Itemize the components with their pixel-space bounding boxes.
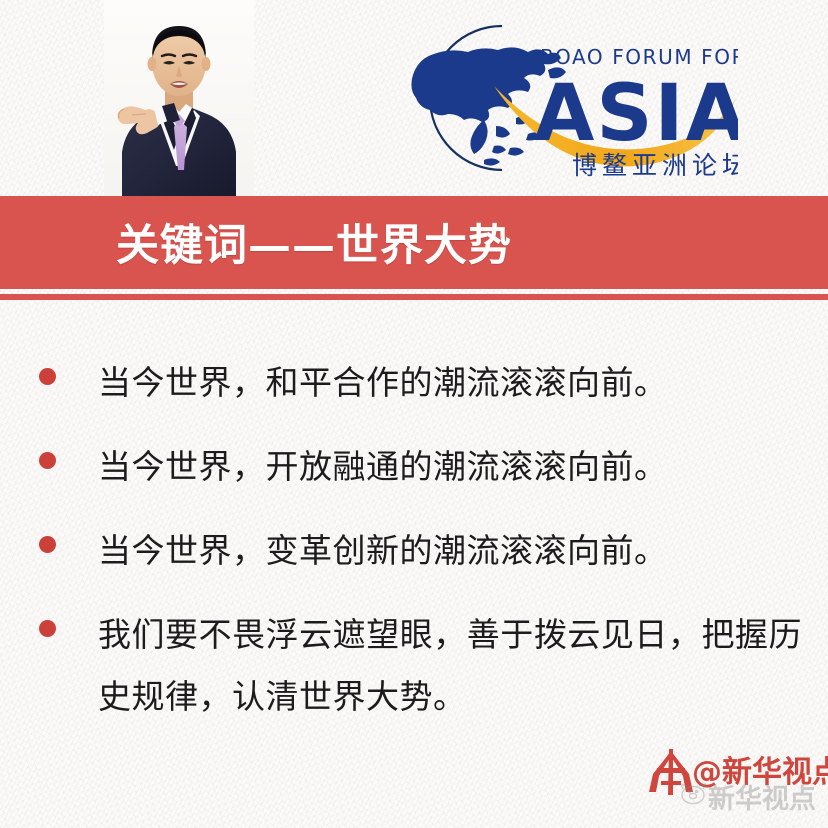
speaker-portrait: [104, 0, 254, 197]
logo-chinese-text: 博鳌亚洲论坛: [572, 151, 738, 180]
banner-underline-rule: [0, 294, 828, 300]
bullet-dot-icon: [39, 620, 56, 637]
keyword-banner: 关键词——世界大势: [0, 196, 828, 289]
logo-asia-text: ASIA: [534, 69, 738, 159]
xinhua-watermark: 新华视点: [678, 777, 828, 823]
list-item: 当今世界，和平合作的潮流滚滚向前。: [0, 352, 828, 414]
list-item-text: 当今世界，变革创新的潮流滚滚向前。: [98, 520, 802, 582]
poster-canvas: BOAO FORUM FOR ASIA 博鳌亚洲论坛 关键词——世界大势 当今世…: [0, 0, 828, 828]
bullet-dot-icon: [39, 452, 56, 469]
list-item: 我们要不畏浮云遮望眼，善于拨云见日，把握历史规律，认清世界大势。: [0, 604, 828, 728]
list-item-text: 当今世界，开放融通的潮流滚滚向前。: [98, 436, 802, 498]
bullet-dot-icon: [39, 368, 56, 385]
list-item: 当今世界，开放融通的潮流滚滚向前。: [0, 436, 828, 498]
boao-forum-logo: BOAO FORUM FOR ASIA 博鳌亚洲论坛: [398, 14, 738, 180]
keyword-bullet-list: 当今世界，和平合作的潮流滚滚向前。 当今世界，开放融通的潮流滚滚向前。 当今世界…: [0, 352, 828, 750]
logo-tagline-text: BOAO FORUM FOR: [540, 45, 738, 69]
banner-title: 关键词——世界大势: [116, 210, 512, 272]
bullet-dot-icon: [39, 536, 56, 553]
list-item: 当今世界，变革创新的潮流滚滚向前。: [0, 520, 828, 582]
list-item-text: 我们要不畏浮云遮望眼，善于拨云见日，把握历史规律，认清世界大势。: [98, 604, 802, 728]
watermark-round-icon: [678, 781, 708, 807]
watermark-text: 新华视点: [708, 777, 816, 816]
list-item-text: 当今世界，和平合作的潮流滚滚向前。: [98, 352, 802, 414]
